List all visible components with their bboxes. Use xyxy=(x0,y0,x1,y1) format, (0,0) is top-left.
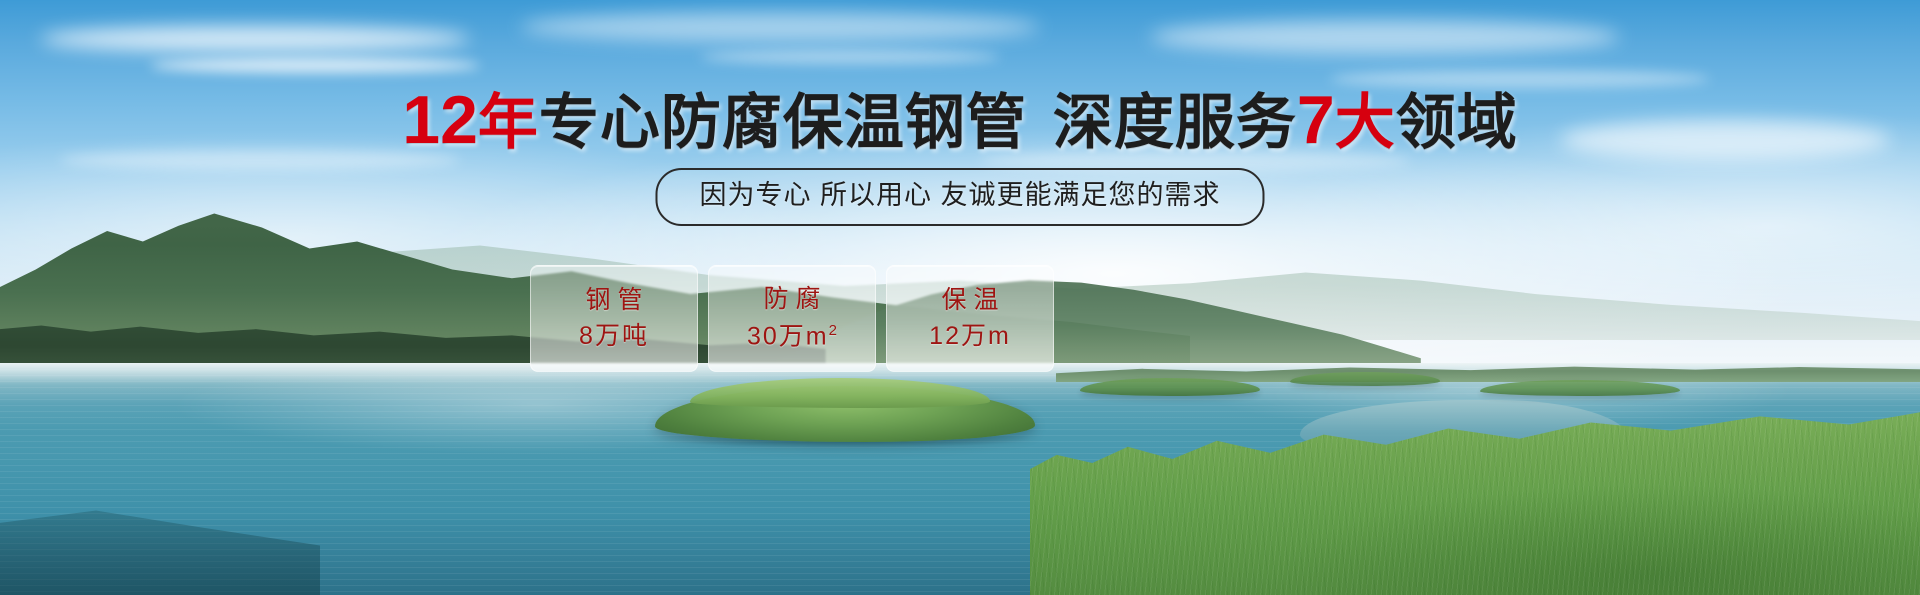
stat-card-steel-pipe: 钢管 8万吨 xyxy=(530,265,698,372)
subtitle-text: 因为专心 所以用心 友诚更能满足您的需求 xyxy=(699,179,1220,213)
banner-content: 12年专心防腐保温钢管深度服务7大领域 因为专心 所以用心 友诚更能满足您的需求… xyxy=(0,0,1920,595)
headline: 12年专心防腐保温钢管深度服务7大领域 xyxy=(0,86,1920,154)
subtitle-pill: 因为专心 所以用心 友诚更能满足您的需求 xyxy=(655,168,1264,226)
stat-card-anticorrosion: 防腐 30万m2 xyxy=(708,265,876,372)
headline-service: 深度服务 xyxy=(1053,89,1297,156)
headline-main: 专心防腐保温钢管 xyxy=(539,89,1027,156)
headline-years-number: 12 xyxy=(402,82,478,158)
stats-row: 钢管 8万吨 防腐 30万m2 保温 12万m xyxy=(530,265,1054,372)
stat-card-insulation: 保温 12万m xyxy=(886,265,1054,372)
headline-seven-unit: 大 xyxy=(1335,89,1396,156)
stat-value-text: 8万吨 xyxy=(579,322,649,350)
stat-value: 12万m xyxy=(929,324,1011,349)
hero-banner: 12年专心防腐保温钢管深度服务7大领域 因为专心 所以用心 友诚更能满足您的需求… xyxy=(0,0,1920,595)
stat-value-superscript: 2 xyxy=(829,322,837,339)
stat-label: 钢管 xyxy=(578,288,649,313)
headline-years-unit: 年 xyxy=(478,89,539,156)
stat-value: 30万m2 xyxy=(747,323,837,349)
stat-value-text: 12万m xyxy=(929,322,1011,350)
stat-label: 防腐 xyxy=(756,287,827,312)
headline-field: 领域 xyxy=(1396,89,1518,156)
stat-value-text: 30万m xyxy=(747,323,829,351)
stat-label: 保温 xyxy=(934,288,1005,313)
stat-value: 8万吨 xyxy=(579,324,649,349)
headline-seven-number: 7 xyxy=(1297,82,1335,158)
